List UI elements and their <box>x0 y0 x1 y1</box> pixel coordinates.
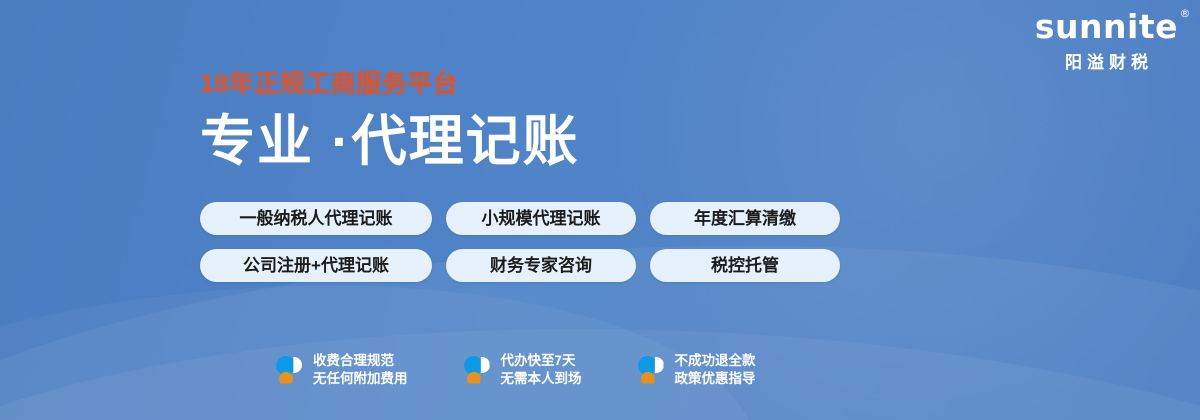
brand-logo[interactable]: sunnite ® 阳溢财税 <box>1035 10 1178 73</box>
hero-copy: 18年正规工商服务平台 专业 ·代理记账 <box>200 72 960 171</box>
blue-orange-dot-icon <box>276 355 302 385</box>
feature-line-2: 无需本人到场 <box>501 371 582 386</box>
blue-orange-dot-icon <box>464 355 490 385</box>
logo-wordmark: sunnite ® <box>1035 10 1178 44</box>
service-pill-expert-consulting[interactable]: 财务专家咨询 <box>446 249 636 282</box>
icon-orange-arc <box>467 372 481 386</box>
hero-eyebrow: 18年正规工商服务平台 <box>200 72 960 97</box>
feature-strip: 收费合理规范 无任何附加费用 代办快至7天 无需本人到场 不成功退全款 <box>276 352 756 388</box>
feature-line-2: 无任何附加费用 <box>313 371 408 386</box>
logo-wordmark-text: sunnite <box>1035 7 1178 46</box>
feature-item-guarantee: 不成功退全款 政策优惠指导 <box>638 352 756 388</box>
feature-item-speed: 代办快至7天 无需本人到场 <box>464 352 582 388</box>
logo-chinese-name: 阳溢财税 <box>1035 48 1178 73</box>
feature-line-2: 政策优惠指导 <box>675 371 756 386</box>
feature-item-pricing: 收费合理规范 无任何附加费用 <box>276 352 408 388</box>
feature-text-speed: 代办快至7天 无需本人到场 <box>501 352 582 388</box>
icon-orange-arc <box>641 372 655 386</box>
service-pill-row-1: 一般纳税人代理记账 小规模代理记账 年度汇算清缴 <box>200 202 840 235</box>
icon-orange-arc <box>279 372 293 386</box>
service-pill-general-taxpayer[interactable]: 一般纳税人代理记账 <box>200 202 432 235</box>
service-pill-company-registration[interactable]: 公司注册+代理记账 <box>200 249 432 282</box>
promo-banner: sunnite ® 阳溢财税 18年正规工商服务平台 专业 ·代理记账 一般纳税… <box>0 0 1200 420</box>
feature-line-1: 代办快至7天 <box>501 353 576 368</box>
service-pill-row-2: 公司注册+代理记账 财务专家咨询 税控托管 <box>200 249 840 282</box>
feature-text-guarantee: 不成功退全款 政策优惠指导 <box>675 352 756 388</box>
service-pill-tax-control-hosting[interactable]: 税控托管 <box>650 249 840 282</box>
service-pill-annual-settlement[interactable]: 年度汇算清缴 <box>650 202 840 235</box>
feature-text-pricing: 收费合理规范 无任何附加费用 <box>313 352 408 388</box>
service-pill-grid: 一般纳税人代理记账 小规模代理记账 年度汇算清缴 公司注册+代理记账 财务专家咨… <box>200 202 840 282</box>
hero-headline: 专业 ·代理记账 <box>200 113 960 171</box>
feature-line-1: 不成功退全款 <box>675 353 756 368</box>
blue-orange-dot-icon <box>638 355 664 385</box>
service-pill-small-scale[interactable]: 小规模代理记账 <box>446 202 636 235</box>
registered-trademark-icon: ® <box>1180 8 1192 19</box>
feature-line-1: 收费合理规范 <box>313 353 394 368</box>
